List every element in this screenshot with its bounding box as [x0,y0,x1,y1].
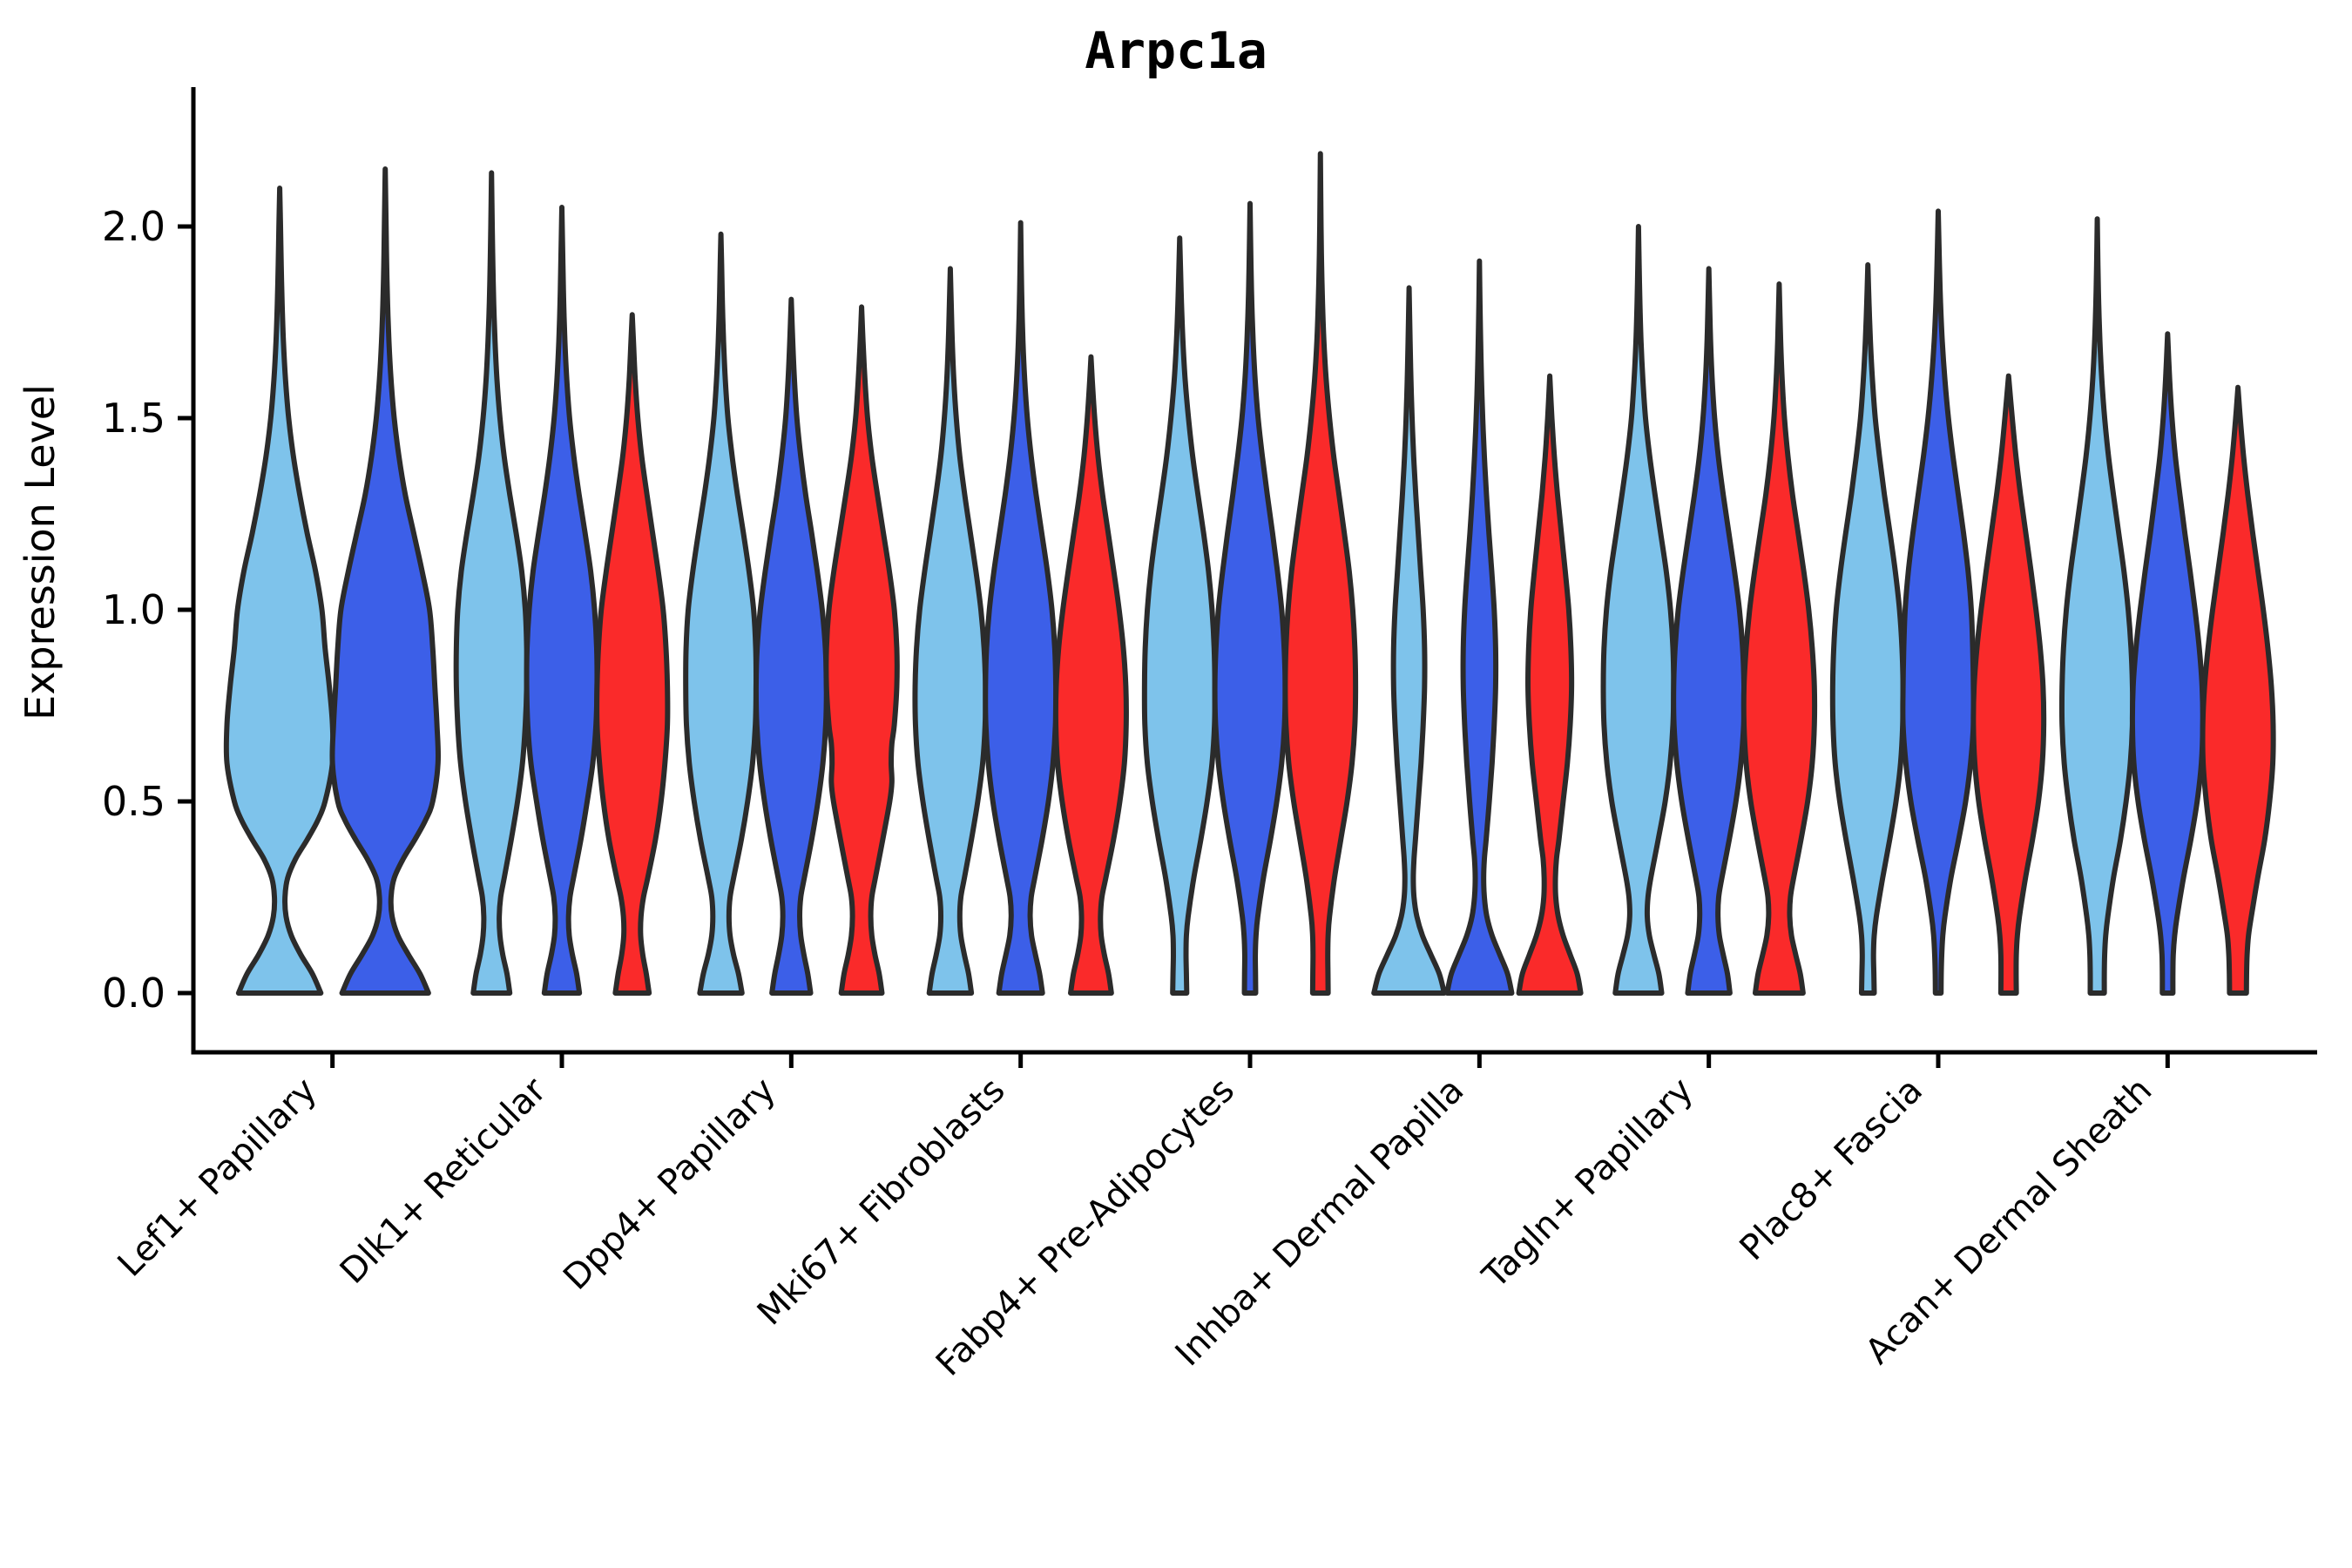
violin-shape [1145,238,1215,993]
violin-shape [1604,226,1674,993]
violin-shape [1903,211,1973,993]
x-tick-label: Dpp4+ Papillary [556,1071,783,1298]
violins-layer [226,153,2274,993]
violin-shape [1673,268,1744,993]
violin-shape [2203,388,2274,993]
axis-spines [193,993,2317,1052]
x-tick-label: Lef1+ Papillary [111,1071,325,1285]
violin-shape [1374,287,1444,993]
violin-shape [1519,376,1581,993]
violin-shape [1744,284,1815,993]
violin-shape [1056,357,1126,993]
chart-canvas: 0.00.51.01.52.0Expression LevelLef1+ Pap… [0,0,2352,1568]
y-tick-label: 0.5 [102,778,166,825]
violin-shape [597,314,667,993]
y-tick-label: 0.0 [102,970,166,1017]
violin-shape [1447,261,1511,993]
x-tick-label: Tagln+ Papillary [1475,1071,1701,1297]
y-tick-label: 2.0 [102,203,166,250]
violin-shape [2132,334,2203,993]
violin-shape [456,172,527,993]
violin-shape [985,223,1056,993]
violin-shape [332,169,438,993]
y-axis-title: Expression Level [17,384,64,720]
y-tick-label: 1.5 [102,395,166,442]
violin-plot-figure: Arpc1a 0.00.51.01.52.0Expression LevelLe… [0,0,2352,1568]
y-tick-label: 1.0 [102,586,166,633]
violin-shape [826,307,896,993]
violin-shape [2062,219,2132,993]
violin-shape [1973,376,2044,993]
x-tick-label: Dlk1+ Reticular [333,1070,555,1292]
x-tick-label: Mki67+ Fibroblasts [750,1071,1013,1334]
violin-shape [527,207,598,993]
x-tick-label: Plac8+ Fascia [1733,1071,1931,1269]
violin-shape [686,234,756,993]
violin-shape [1215,204,1286,993]
violin-shape [226,188,334,993]
violin-shape [915,268,985,993]
violin-shape [1833,265,1903,993]
violin-shape [1285,153,1355,993]
violin-shape [756,300,827,993]
